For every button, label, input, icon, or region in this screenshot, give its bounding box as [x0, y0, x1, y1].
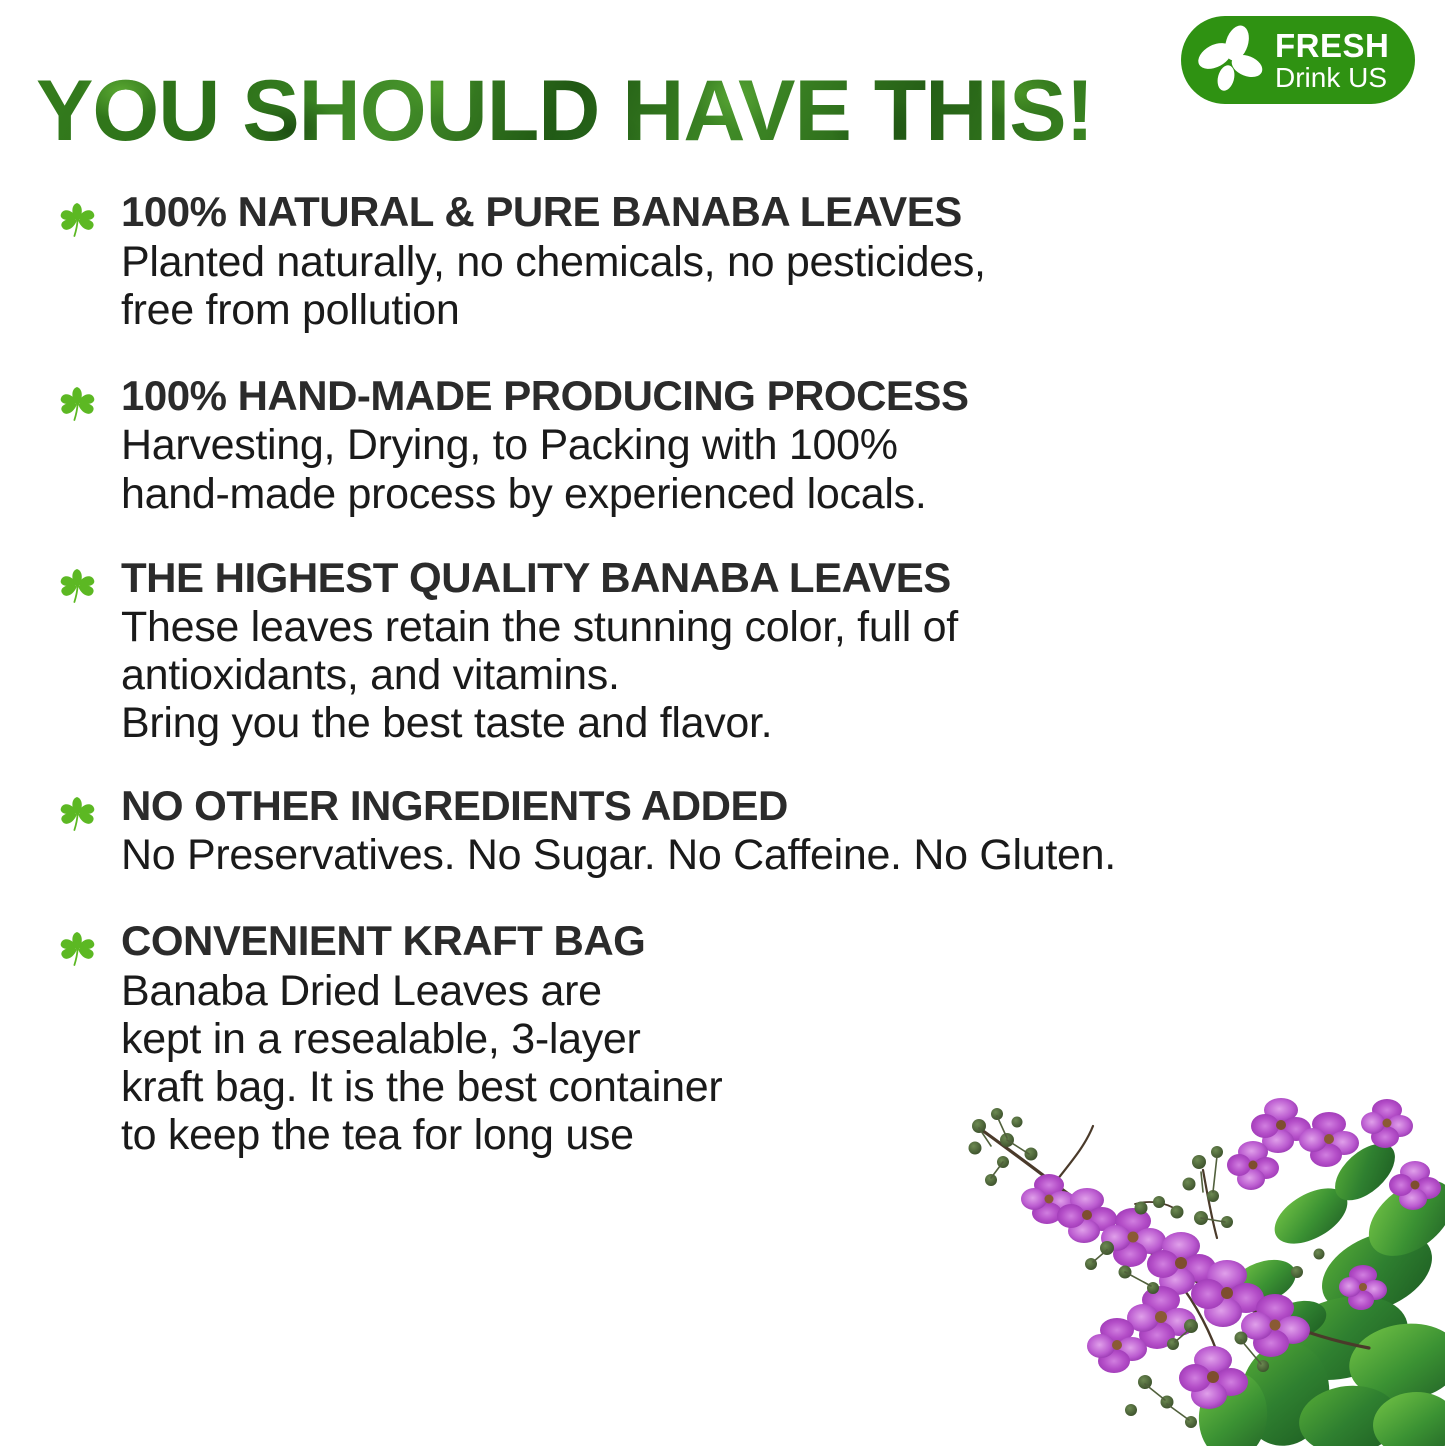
feature-body-line: kept in a resealable, 3-layer	[121, 1015, 1395, 1063]
feature-item: 100% NATURAL & PURE BANABA LEAVES Plante…	[55, 190, 1395, 334]
four-leaf-clover-icon	[55, 927, 101, 973]
page-title: YOU SHOULD HAVE THIS!	[36, 62, 1093, 161]
feature-heading: NO OTHER INGREDIENTS ADDED	[121, 784, 1395, 829]
feature-list: 100% NATURAL & PURE BANABA LEAVES Plante…	[55, 190, 1395, 1159]
feature-body-line: Planted naturally, no chemicals, no pest…	[121, 238, 1395, 286]
feature-text: NO OTHER INGREDIENTS ADDED No Preservati…	[121, 784, 1395, 880]
four-leaf-clover-icon	[55, 792, 101, 838]
feature-heading: THE HIGHEST QUALITY BANABA LEAVES	[121, 556, 1395, 601]
brand-logo: FRESH Drink US	[1181, 16, 1415, 104]
feature-body-line: Banaba Dried Leaves are	[121, 967, 1395, 1015]
feature-body: Banaba Dried Leaves are kept in a reseal…	[121, 967, 1395, 1160]
brand-name-secondary: Drink US	[1275, 64, 1387, 92]
feature-item: 100% HAND-MADE PRODUCING PROCESS Harvest…	[55, 374, 1395, 518]
feature-heading: 100% HAND-MADE PRODUCING PROCESS	[121, 374, 1395, 419]
feature-body-line: Bring you the best taste and flavor.	[121, 699, 1395, 747]
brand-name-primary: FRESH	[1275, 29, 1389, 62]
feature-text: THE HIGHEST QUALITY BANABA LEAVES These …	[121, 556, 1395, 748]
feature-item: NO OTHER INGREDIENTS ADDED No Preservati…	[55, 784, 1395, 880]
feature-body-line: free from pollution	[121, 286, 1395, 334]
product-infographic: FRESH Drink US YOU SHOULD HAVE THIS!	[0, 0, 1445, 1446]
feature-heading: CONVENIENT KRAFT BAG	[121, 919, 1395, 964]
feature-heading: 100% NATURAL & PURE BANABA LEAVES	[121, 190, 1395, 235]
feature-body-line: antioxidants, and vitamins.	[121, 651, 1395, 699]
feature-text: 100% NATURAL & PURE BANABA LEAVES Plante…	[121, 190, 1395, 334]
feature-body-line: to keep the tea for long use	[121, 1111, 1395, 1159]
feature-body-line: No Preservatives. No Sugar. No Caffeine.…	[121, 831, 1395, 879]
feature-body-line: kraft bag. It is the best container	[121, 1063, 1395, 1111]
feature-item: THE HIGHEST QUALITY BANABA LEAVES These …	[55, 556, 1395, 748]
feature-body-line: Harvesting, Drying, to Packing with 100%	[121, 421, 1395, 469]
feature-body: These leaves retain the stunning color, …	[121, 603, 1395, 747]
four-leaf-clover-icon	[55, 198, 101, 244]
feature-body-line: These leaves retain the stunning color, …	[121, 603, 1395, 651]
feature-text: CONVENIENT KRAFT BAG Banaba Dried Leaves…	[121, 919, 1395, 1159]
four-leaf-clover-icon	[55, 564, 101, 610]
four-leaf-logo-icon	[1195, 23, 1269, 97]
feature-body: Planted naturally, no chemicals, no pest…	[121, 238, 1395, 334]
feature-body-line: hand-made process by experienced locals.	[121, 470, 1395, 518]
four-leaf-clover-icon	[55, 382, 101, 428]
feature-item: CONVENIENT KRAFT BAG Banaba Dried Leaves…	[55, 919, 1395, 1159]
feature-text: 100% HAND-MADE PRODUCING PROCESS Harvest…	[121, 374, 1395, 518]
brand-wordmark: FRESH Drink US	[1269, 29, 1405, 92]
feature-body: Harvesting, Drying, to Packing with 100%…	[121, 421, 1395, 517]
feature-body: No Preservatives. No Sugar. No Caffeine.…	[121, 831, 1395, 879]
